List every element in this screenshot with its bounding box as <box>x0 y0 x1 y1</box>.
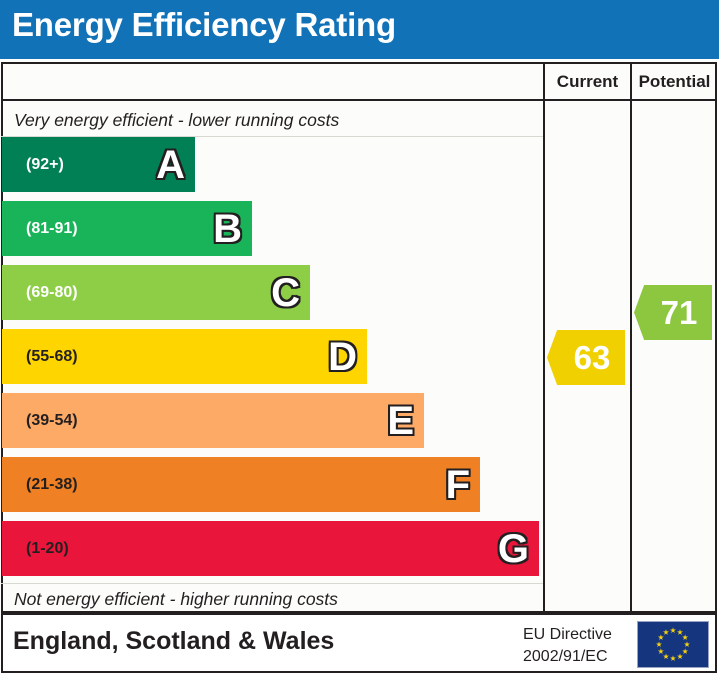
current-rating-marker: 63 <box>547 330 625 385</box>
caption-very-efficient: Very energy efficient - lower running co… <box>14 110 339 131</box>
band-letter-d: D <box>328 337 357 377</box>
footer-region-label: England, Scotland & Wales <box>13 627 334 656</box>
band-range-a: (92+) <box>26 156 64 174</box>
band-range-g: (1-20) <box>26 540 69 558</box>
header-divider <box>1 99 717 101</box>
rating-band-b: (81-91)B <box>2 201 252 256</box>
eu-flag-icon <box>637 621 709 668</box>
page-title: Energy Efficiency Rating <box>12 6 396 44</box>
band-letter-b: B <box>213 209 242 249</box>
caption-not-efficient: Not energy efficient - higher running co… <box>14 589 338 610</box>
rating-bands: (92+)A(81-91)B(69-80)C(55-68)D(39-54)E(2… <box>2 137 543 583</box>
current-column-divider <box>543 62 545 613</box>
band-range-b: (81-91) <box>26 220 78 238</box>
band-range-f: (21-38) <box>26 476 78 494</box>
rating-band-g: (1-20)G <box>2 521 539 576</box>
potential-column-divider <box>630 62 632 613</box>
band-letter-f: F <box>446 465 470 505</box>
rating-band-d: (55-68)D <box>2 329 367 384</box>
footer-directive: EU Directive 2002/91/EC <box>523 624 612 667</box>
directive-line-2: 2002/91/EC <box>523 646 612 668</box>
band-letter-e: E <box>387 401 414 441</box>
current-column-header: Current <box>545 72 630 92</box>
energy-efficiency-rating-chart: Energy Efficiency Rating Current Potenti… <box>0 0 719 675</box>
rating-band-e: (39-54)E <box>2 393 424 448</box>
band-range-c: (69-80) <box>26 284 78 302</box>
band-letter-g: G <box>498 529 529 569</box>
band-letter-a: A <box>156 145 185 185</box>
band-range-e: (39-54) <box>26 412 78 430</box>
bottom-caption-divider <box>1 583 543 584</box>
rating-band-a: (92+)A <box>2 137 195 192</box>
potential-rating-value: 71 <box>661 294 698 332</box>
current-rating-value: 63 <box>574 339 611 377</box>
potential-rating-marker: 71 <box>634 285 712 340</box>
potential-column-header: Potential <box>632 72 717 92</box>
rating-band-f: (21-38)F <box>2 457 480 512</box>
band-range-d: (55-68) <box>26 348 78 366</box>
title-bar: Energy Efficiency Rating <box>0 0 719 59</box>
directive-line-1: EU Directive <box>523 624 612 646</box>
rating-band-c: (69-80)C <box>2 265 310 320</box>
band-letter-c: C <box>271 273 300 313</box>
